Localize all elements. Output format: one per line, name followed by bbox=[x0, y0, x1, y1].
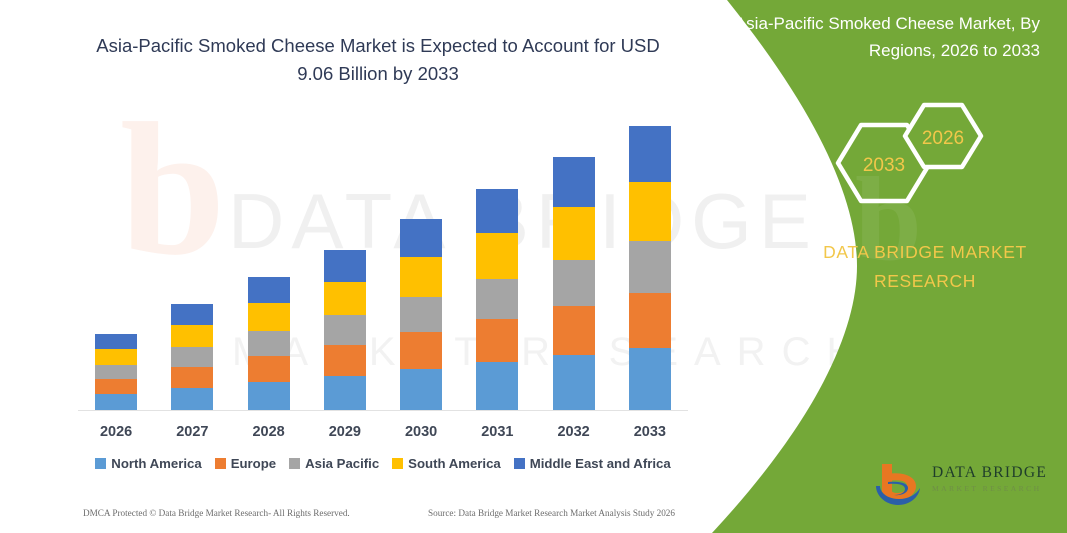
stacked-bar-2033 bbox=[629, 126, 671, 410]
stacked-bar-2029 bbox=[324, 250, 366, 410]
x-axis-label-2028: 2028 bbox=[231, 424, 307, 440]
bar-segment bbox=[324, 282, 366, 315]
bar-segment bbox=[248, 331, 290, 356]
x-axis-label-2032: 2032 bbox=[536, 424, 612, 440]
logo-subtitle: MARKET RESEARCH bbox=[932, 484, 1047, 493]
bar-segment bbox=[171, 347, 213, 367]
bar-segment bbox=[400, 257, 442, 297]
bar-segment bbox=[629, 126, 671, 182]
bar-segment bbox=[476, 279, 518, 319]
hexagon-group: 2033 2026 bbox=[820, 95, 1020, 230]
infographic-page: b DATA BRIDGE MARKET RESEARCH Asia-Pacif… bbox=[0, 0, 1067, 533]
bar-slot-2032 bbox=[536, 120, 612, 410]
stacked-bar-2027 bbox=[171, 304, 213, 410]
bar-segment bbox=[324, 250, 366, 282]
legend-item[interactable]: Middle East and Africa bbox=[514, 456, 671, 471]
bar-segment bbox=[629, 182, 671, 241]
legend-swatch-icon bbox=[215, 458, 226, 469]
bar-segment bbox=[95, 334, 137, 349]
bar-slot-2028 bbox=[231, 120, 307, 410]
bar-segment bbox=[476, 189, 518, 233]
logo-mark-icon bbox=[872, 462, 928, 508]
bar-slot-2029 bbox=[307, 120, 383, 410]
bar-segment bbox=[248, 356, 290, 382]
bar-segment bbox=[553, 157, 595, 207]
bar-slot-2027 bbox=[154, 120, 230, 410]
bar-segment bbox=[171, 325, 213, 347]
bar-segment bbox=[476, 319, 518, 362]
logo-text: DATA BRIDGE MARKET RESEARCH bbox=[932, 464, 1047, 493]
x-axis-label-2026: 2026 bbox=[78, 424, 154, 440]
stacked-bar-2031 bbox=[476, 189, 518, 410]
bar-segment bbox=[629, 348, 671, 410]
x-axis-label-2033: 2033 bbox=[612, 424, 688, 440]
hexagon-2033-label: 2033 bbox=[863, 155, 905, 176]
panel-brand-line2: RESEARCH bbox=[790, 267, 1060, 296]
bar-slot-2030 bbox=[383, 120, 459, 410]
legend-swatch-icon bbox=[514, 458, 525, 469]
panel-brand-line1: DATA BRIDGE MARKET bbox=[790, 238, 1060, 267]
x-axis-label-2030: 2030 bbox=[383, 424, 459, 440]
bar-segment bbox=[248, 382, 290, 410]
bar-segment bbox=[95, 394, 137, 410]
bar-segment bbox=[248, 277, 290, 303]
bar-segment bbox=[553, 207, 595, 260]
chart-title: Asia-Pacific Smoked Cheese Market is Exp… bbox=[78, 32, 678, 88]
panel-title: Asia-Pacific Smoked Cheese Market, By Re… bbox=[730, 10, 1040, 64]
legend-swatch-icon bbox=[392, 458, 403, 469]
bar-segment bbox=[171, 388, 213, 410]
legend-item[interactable]: Asia Pacific bbox=[289, 456, 379, 471]
footer-source: Source: Data Bridge Market Research Mark… bbox=[428, 508, 675, 518]
stacked-bar-2032 bbox=[553, 157, 595, 410]
bar-segment bbox=[400, 369, 442, 410]
legend-label: Europe bbox=[231, 456, 276, 471]
bar-segment bbox=[400, 219, 442, 257]
legend-item[interactable]: North America bbox=[95, 456, 201, 471]
bar-segment bbox=[95, 379, 137, 394]
stacked-bar-group bbox=[78, 120, 688, 410]
bar-segment bbox=[171, 367, 213, 388]
footer-copyright: DMCA Protected © Data Bridge Market Rese… bbox=[83, 508, 350, 518]
bar-segment bbox=[553, 260, 595, 306]
bar-segment bbox=[629, 293, 671, 348]
x-axis-label-2027: 2027 bbox=[154, 424, 230, 440]
bar-segment bbox=[324, 345, 366, 376]
bar-slot-2026 bbox=[78, 120, 154, 410]
x-axis-labels: 20262027202820292030203120322033 bbox=[78, 424, 688, 440]
bar-slot-2033 bbox=[612, 120, 688, 410]
bar-segment bbox=[248, 303, 290, 331]
bar-segment bbox=[324, 376, 366, 410]
legend-label: North America bbox=[111, 456, 201, 471]
legend-label: Asia Pacific bbox=[305, 456, 379, 471]
bar-segment bbox=[400, 332, 442, 369]
legend-item[interactable]: Europe bbox=[215, 456, 276, 471]
legend-label: South America bbox=[408, 456, 501, 471]
x-axis-line bbox=[78, 410, 688, 411]
legend-swatch-icon bbox=[289, 458, 300, 469]
bar-segment bbox=[476, 233, 518, 279]
bar-segment bbox=[95, 349, 137, 365]
bar-segment bbox=[553, 355, 595, 410]
legend-item[interactable]: South America bbox=[392, 456, 501, 471]
data-bridge-logo: DATA BRIDGE MARKET RESEARCH bbox=[872, 462, 1052, 510]
bar-segment bbox=[171, 304, 213, 325]
hexagon-2026-label: 2026 bbox=[922, 128, 964, 149]
chart-plot-area bbox=[78, 120, 688, 412]
bar-slot-2031 bbox=[459, 120, 535, 410]
stacked-bar-2026 bbox=[95, 334, 137, 410]
stacked-bar-2030 bbox=[400, 219, 442, 410]
x-axis-label-2031: 2031 bbox=[459, 424, 535, 440]
stacked-bar-2028 bbox=[248, 277, 290, 410]
bar-segment bbox=[95, 365, 137, 379]
bar-segment bbox=[629, 241, 671, 293]
bar-segment bbox=[324, 315, 366, 345]
panel-brand: DATA BRIDGE MARKET RESEARCH bbox=[790, 238, 1060, 296]
chart-legend: North AmericaEuropeAsia PacificSouth Ame… bbox=[78, 456, 688, 471]
bar-segment bbox=[553, 306, 595, 355]
legend-swatch-icon bbox=[95, 458, 106, 469]
logo-name: DATA BRIDGE bbox=[932, 464, 1047, 482]
bar-segment bbox=[400, 297, 442, 332]
x-axis-label-2029: 2029 bbox=[307, 424, 383, 440]
bar-segment bbox=[476, 362, 518, 410]
legend-label: Middle East and Africa bbox=[530, 456, 671, 471]
